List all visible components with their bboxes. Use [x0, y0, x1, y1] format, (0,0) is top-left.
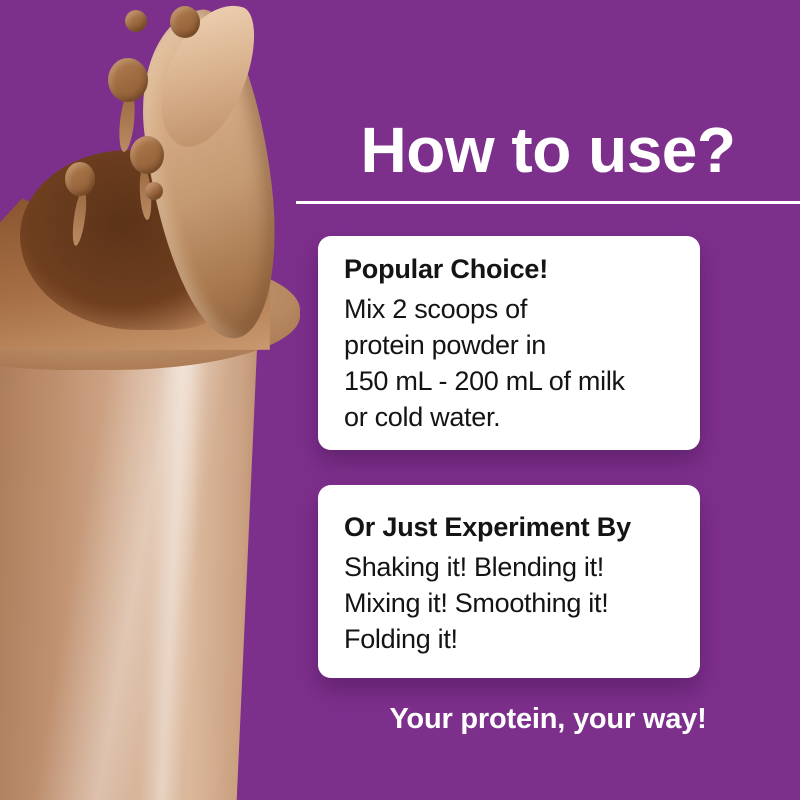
poster-canvas: How to use? Popular Choice! Mix 2 scoops… — [0, 0, 800, 800]
title-divider — [296, 201, 800, 204]
card-body: Mix 2 scoops of protein powder in 150 mL… — [344, 291, 625, 435]
glass-highlight — [137, 320, 209, 800]
card-body-line: Mixing it! Smoothing it! — [344, 585, 608, 621]
instruction-card-popular-choice: Popular Choice! Mix 2 scoops of protein … — [318, 236, 700, 450]
splash-droplet — [170, 6, 200, 38]
card-body-line: Mix 2 scoops of — [344, 291, 625, 327]
glass-rim — [0, 292, 277, 332]
card-body-line: 150 mL - 200 mL of milk — [344, 363, 625, 399]
splash-shadow — [20, 150, 250, 330]
card-body-line: Folding it! — [344, 621, 608, 657]
drinking-glass — [0, 300, 270, 800]
page-title: How to use? — [296, 118, 800, 182]
splash-droplet — [108, 58, 148, 102]
droplet-tail — [70, 190, 89, 247]
card-body: Shaking it! Blending it! Mixing it! Smoo… — [344, 549, 608, 657]
splash-ribbon-curl — [149, 0, 265, 158]
splash-droplet — [125, 10, 147, 32]
card-body-line: Shaking it! Blending it! — [344, 549, 608, 585]
instruction-card-experiment: Or Just Experiment By Shaking it! Blendi… — [318, 485, 700, 678]
splash-droplet — [65, 162, 95, 196]
milk-surface — [0, 250, 300, 370]
splash-droplet — [130, 136, 164, 174]
splash-crown — [0, 120, 270, 350]
card-heading: Popular Choice! — [344, 254, 548, 285]
droplet-tail — [117, 91, 137, 152]
splash-droplet — [145, 182, 163, 200]
droplet-tail — [138, 168, 153, 221]
card-heading: Or Just Experiment By — [344, 512, 631, 543]
splash-ribbon — [130, 4, 289, 346]
card-body-line: protein powder in — [344, 327, 625, 363]
tagline: Your protein, your way! — [296, 703, 800, 736]
chocolate-splash-illustration — [0, 0, 330, 800]
card-body-line: or cold water. — [344, 399, 625, 435]
